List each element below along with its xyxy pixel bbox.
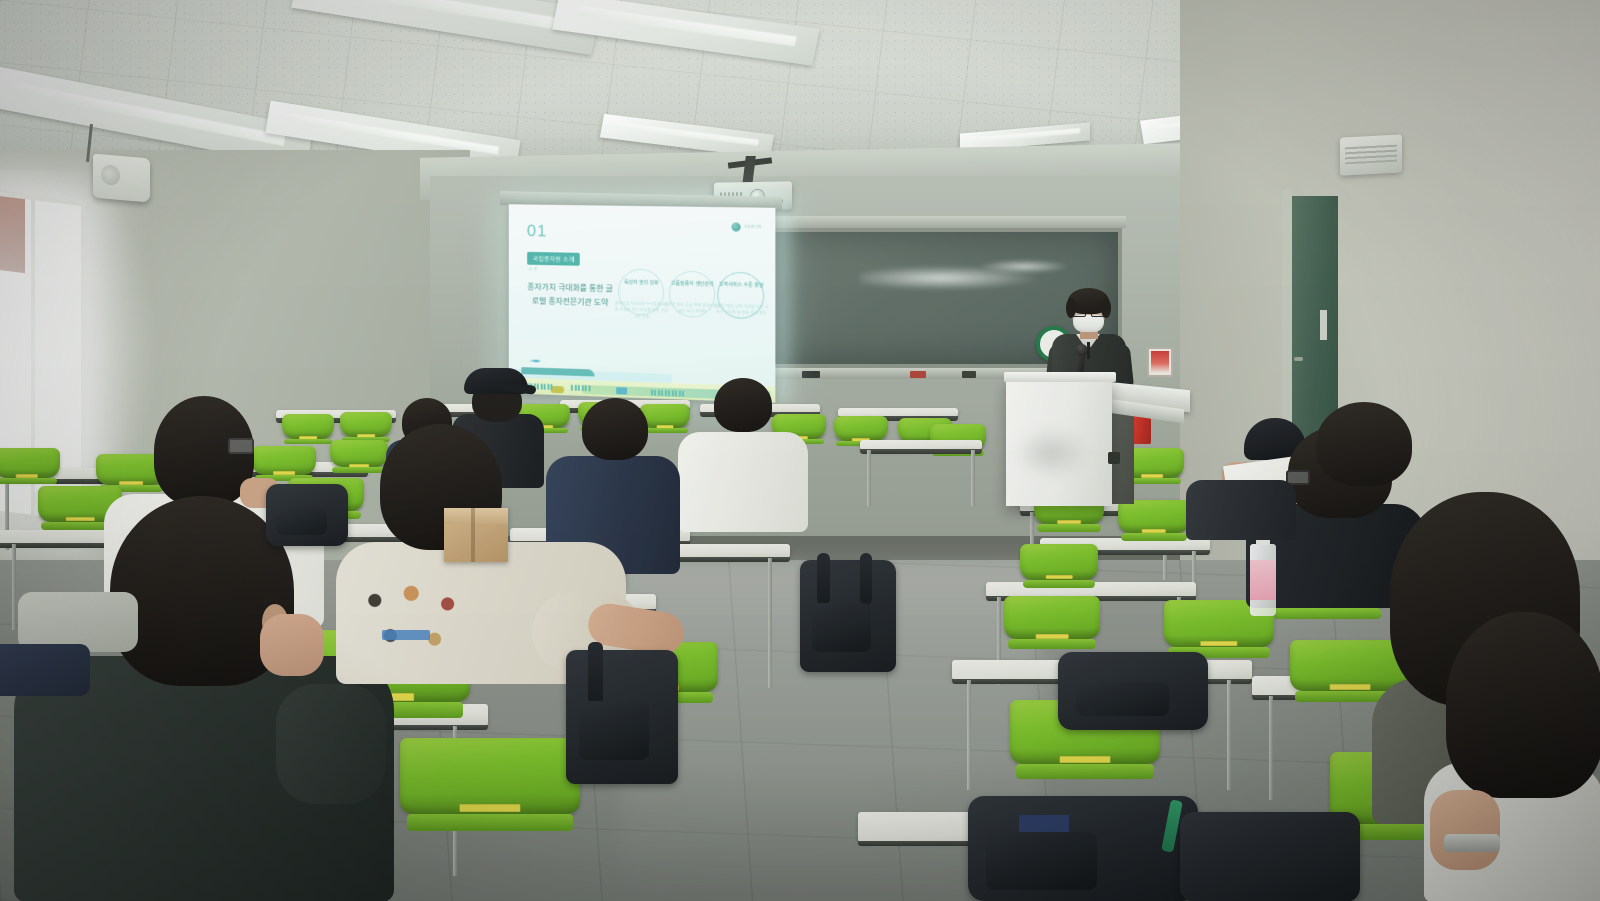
chair[interactable] bbox=[400, 738, 580, 860]
backpack-under-desk bbox=[566, 650, 678, 784]
jacket-navy bbox=[0, 644, 90, 696]
student-white-center bbox=[678, 376, 808, 534]
lectern-top bbox=[1004, 372, 1116, 382]
board-rail bbox=[764, 216, 1126, 228]
backpack-pocket bbox=[1076, 682, 1169, 716]
bottle-label bbox=[1250, 560, 1276, 600]
logo-mark-icon bbox=[732, 223, 741, 232]
student-hand bbox=[260, 614, 324, 676]
backpack-pocket bbox=[986, 832, 1096, 891]
backpack-pocket bbox=[579, 701, 648, 760]
projection-screen: 01 국립종자원 소개 서 론 종자가치 극대화를 통한 글로벌 종자전문기관 … bbox=[509, 204, 776, 403]
slide-column: 육성자 권리 강화 종자산업 육성지원 우수품종보호 및 육성자 권리 보호를 … bbox=[613, 271, 669, 321]
chair-label bbox=[1330, 684, 1371, 690]
cardboard-box bbox=[444, 508, 508, 562]
glasses-icon bbox=[228, 438, 254, 454]
box-flap bbox=[444, 508, 508, 524]
chair[interactable] bbox=[1020, 544, 1098, 602]
backpack-strap bbox=[817, 553, 829, 605]
face-mask-icon bbox=[1073, 315, 1104, 332]
speaker-cone bbox=[101, 164, 120, 186]
wall-framed-picture bbox=[1147, 347, 1173, 377]
chair-label bbox=[1036, 634, 1069, 639]
classroom-photo: 01 국립종자원 소개 서 론 종자가치 극대화를 통한 글로벌 종자전문기관 … bbox=[0, 0, 1600, 901]
water-bottle bbox=[1250, 544, 1276, 616]
chair-label bbox=[1060, 756, 1111, 763]
box-tape bbox=[471, 508, 475, 562]
shirt-graphic-print bbox=[354, 574, 484, 662]
slide-badge: 국립종자원 소개 bbox=[527, 252, 580, 266]
chair-label bbox=[459, 804, 520, 813]
shirt-graphic-text bbox=[382, 630, 430, 640]
wristwatch-icon bbox=[1444, 834, 1500, 852]
backpack-foreground-right-2 bbox=[1180, 812, 1360, 901]
student-hand bbox=[1430, 790, 1500, 870]
slide-column-body: 종자산업 육성지원 우수품종보호 및 육성자 권리 보호를 통한 산업 기반 구… bbox=[613, 300, 669, 321]
backpack-strap bbox=[588, 642, 603, 704]
student-torso bbox=[1186, 480, 1296, 540]
slide-number: 01 bbox=[527, 222, 547, 242]
presenter-hair bbox=[1066, 298, 1076, 318]
door-handle[interactable] bbox=[1294, 357, 1303, 361]
slide-column-title: 육성자 권리 강화 bbox=[613, 271, 669, 289]
jacket-on-chair bbox=[18, 592, 138, 652]
board-glare bbox=[979, 260, 1069, 273]
backpack-brand-label bbox=[1019, 815, 1070, 832]
door-plate bbox=[1320, 310, 1327, 340]
backpack-pocket bbox=[276, 508, 327, 535]
eraser[interactable] bbox=[910, 371, 926, 378]
backpack-strap bbox=[860, 553, 872, 605]
desk bbox=[860, 440, 982, 450]
slide-headline: 종자가치 극대화를 통한 글로벌 종자전문기관 도약 bbox=[524, 280, 616, 310]
backpack-floor-center bbox=[800, 560, 896, 672]
student-far-right bbox=[1424, 612, 1600, 901]
backpack-pocket bbox=[812, 603, 872, 652]
slide-column: 고객서비스 수준 향상 민원인 대응 강화 디지털 기반 서비스 고도화 및 현… bbox=[713, 273, 770, 317]
slide-subtitle: 서 론 bbox=[528, 267, 537, 273]
student-hair bbox=[1446, 612, 1600, 798]
student-torso bbox=[678, 432, 808, 532]
student-white-tee-left bbox=[1186, 420, 1296, 540]
backpack-chair-right bbox=[1058, 652, 1208, 730]
chair-label bbox=[1200, 641, 1237, 646]
student-right-black bbox=[1296, 402, 1426, 552]
illustration-crops-icon bbox=[571, 385, 590, 392]
lectern-control-panel[interactable] bbox=[1108, 452, 1120, 464]
air-conditioner-vent bbox=[1340, 134, 1402, 175]
fire-extinguisher bbox=[1131, 414, 1151, 444]
wall-speaker bbox=[93, 154, 150, 203]
chair-label bbox=[1046, 575, 1073, 579]
eraser[interactable] bbox=[962, 371, 976, 378]
student-arm bbox=[276, 684, 386, 804]
slide-column-title: 고객서비스 수준 향상 bbox=[713, 273, 770, 291]
student-hair bbox=[1316, 402, 1412, 486]
chair[interactable] bbox=[1118, 500, 1190, 554]
slide-logo: 국립종자원 bbox=[732, 223, 762, 233]
backpack-left bbox=[266, 484, 348, 546]
student-hair bbox=[714, 378, 772, 432]
lectern bbox=[1006, 378, 1112, 506]
presenter-hair bbox=[1101, 298, 1111, 318]
logo-text: 국립종자원 bbox=[744, 225, 762, 230]
illustration-tractor-icon bbox=[616, 387, 627, 394]
slide-column-body: 민원인 대응 강화 디지털 기반 서비스 고도화 및 현장 중심 행정 bbox=[713, 303, 770, 317]
